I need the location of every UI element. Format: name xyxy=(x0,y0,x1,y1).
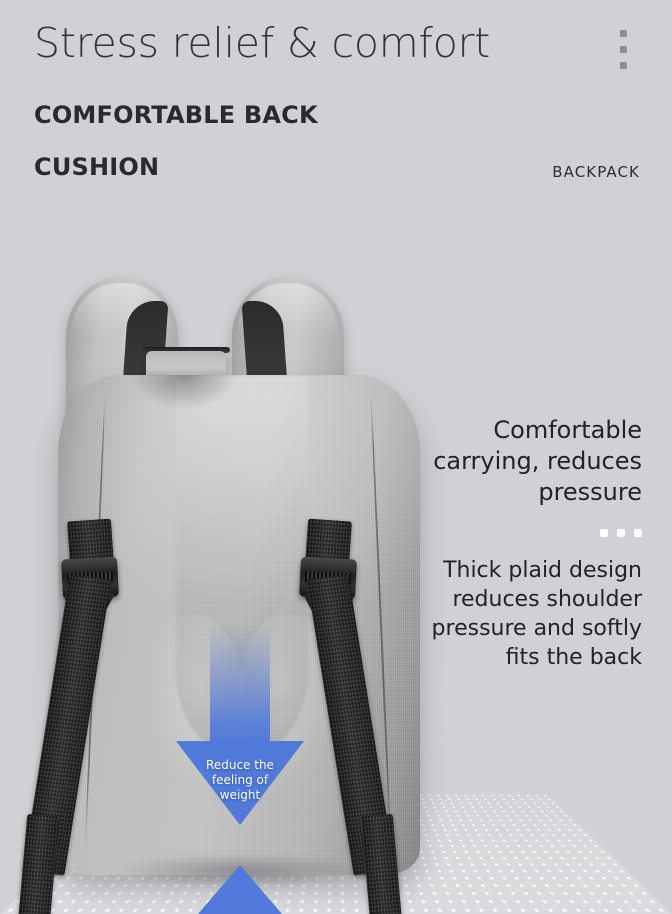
kebab-menu-icon[interactable] xyxy=(620,30,630,74)
kebab-dot xyxy=(620,62,627,69)
arrow-head xyxy=(168,865,312,914)
feature-paragraph-1: Comfortable carrying, reduces pressure xyxy=(406,415,642,508)
dot-separator xyxy=(406,529,642,537)
separator-dot xyxy=(634,529,642,537)
subtitle-line-1: COMFORTABLE BACK xyxy=(34,101,318,129)
subtitle-line-2: CUSHION xyxy=(34,153,159,181)
product-image: Reduce the feeling of weight Increase co… xyxy=(0,255,470,895)
arrow-stem xyxy=(210,625,270,747)
product-feature-page: Stress relief & comfort COMFORTABLE BACK… xyxy=(0,0,672,914)
kebab-dot xyxy=(620,46,627,53)
separator-dot xyxy=(600,529,608,537)
kebab-dot xyxy=(620,30,627,37)
category-label: BACKPACK xyxy=(552,163,640,181)
arrow-head xyxy=(176,741,304,825)
feature-copy: Comfortable carrying, reduces pressure T… xyxy=(406,415,642,672)
annotation-arrow-down: Reduce the feeling of weight xyxy=(176,625,304,825)
separator-dot xyxy=(617,529,625,537)
annotation-arrow-up: Increase comfort xyxy=(168,865,312,914)
top-contact-shadow xyxy=(120,375,248,445)
page-title: Stress relief & comfort xyxy=(34,19,490,67)
feature-paragraph-2: Thick plaid design reduces shoulder pres… xyxy=(406,556,642,672)
